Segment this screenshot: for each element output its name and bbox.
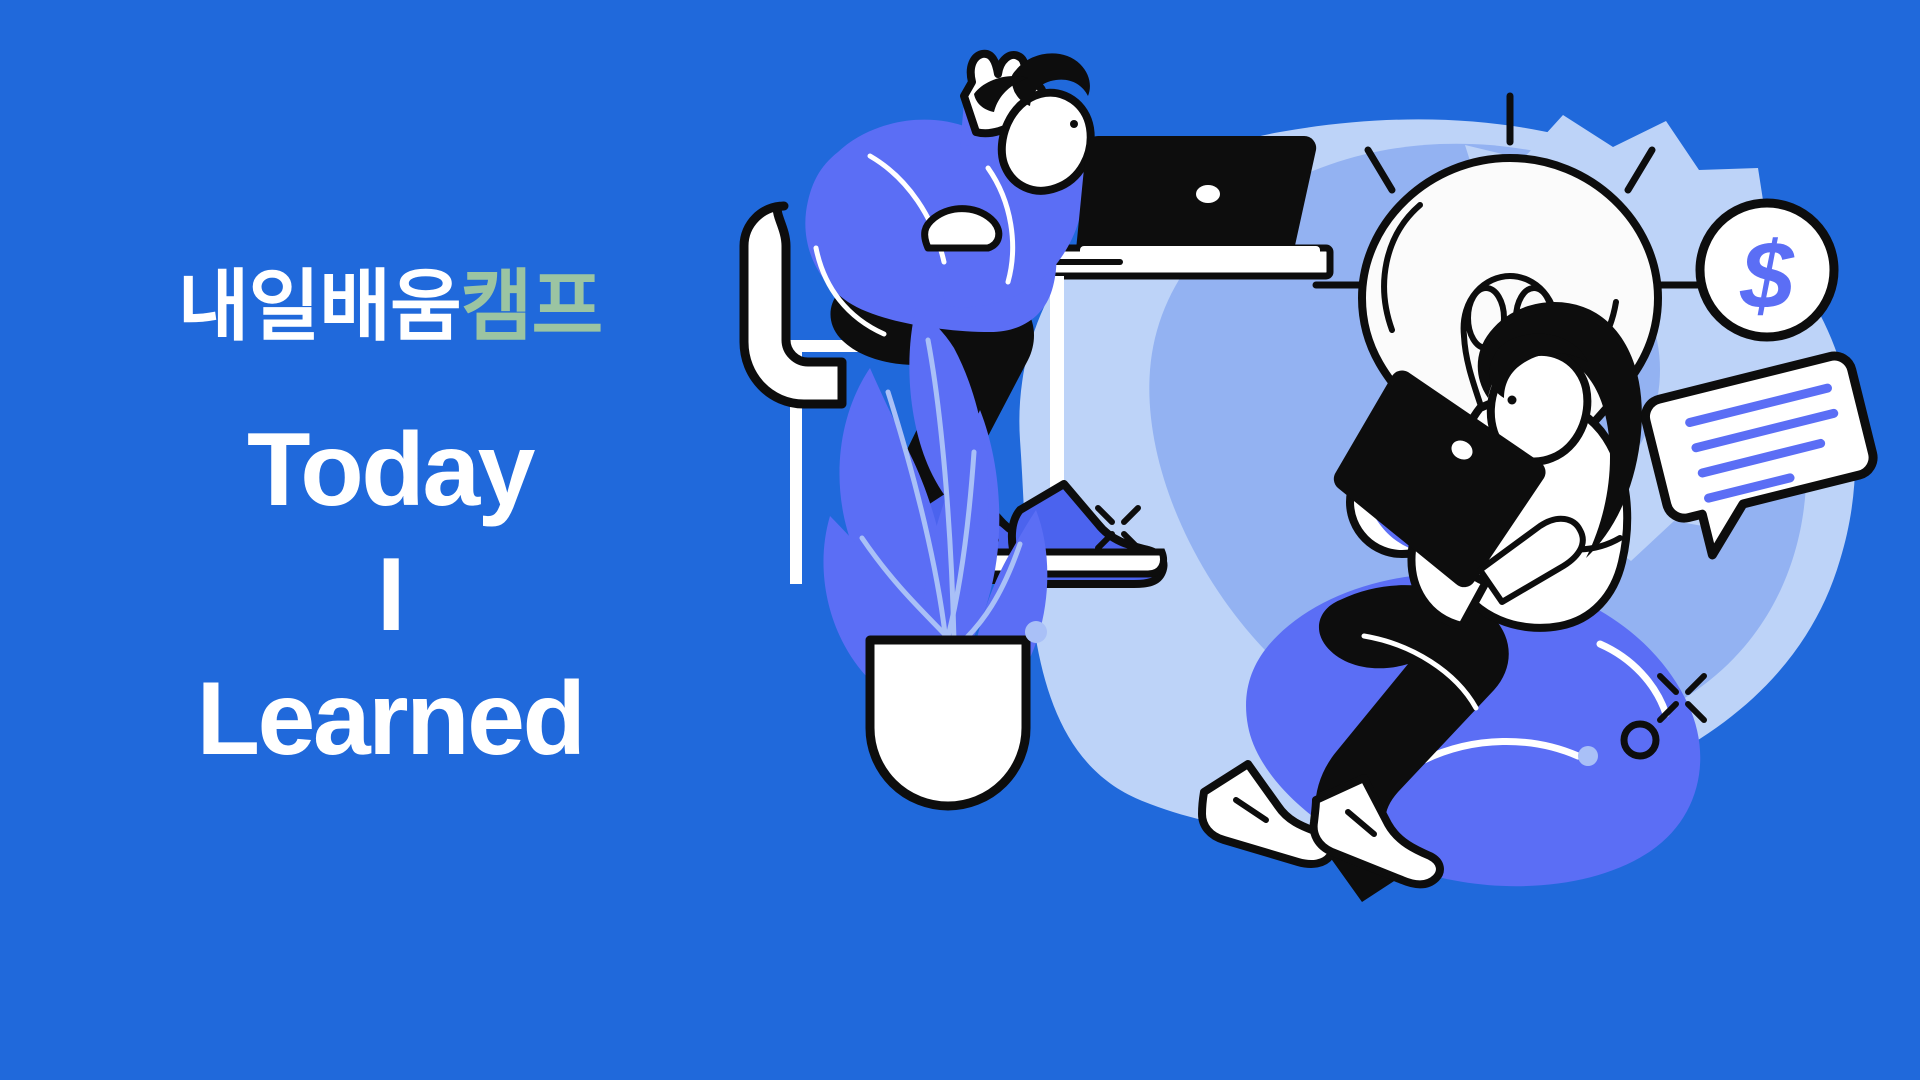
brand-logo-white-text: 내일배움 bbox=[178, 262, 461, 352]
page-title: Today I Learned bbox=[196, 408, 583, 782]
illustration-svg: $ bbox=[720, 40, 1920, 1040]
headline-line-2: I bbox=[196, 533, 583, 658]
dollar-sign-glyph: $ bbox=[1739, 222, 1795, 329]
plant-pot bbox=[870, 640, 1026, 806]
text-block: 내일배움캠프 Today I Learned bbox=[0, 0, 780, 1080]
small-dot bbox=[1578, 746, 1598, 766]
man-hand-typing bbox=[925, 209, 999, 248]
slide-canvas: 내일배움캠프 Today I Learned bbox=[0, 0, 1920, 1080]
brand-logo: 내일배움캠프 bbox=[178, 268, 603, 346]
brand-logo-green-text: 캠프 bbox=[461, 262, 603, 352]
headline-line-1: Today bbox=[196, 408, 583, 533]
headline-line-3: Learned bbox=[196, 657, 583, 782]
illustration: $ bbox=[720, 40, 1920, 1040]
laptop-on-desk bbox=[1076, 136, 1320, 256]
small-dot bbox=[1025, 621, 1047, 643]
dollar-coin-icon: $ bbox=[1700, 203, 1834, 337]
